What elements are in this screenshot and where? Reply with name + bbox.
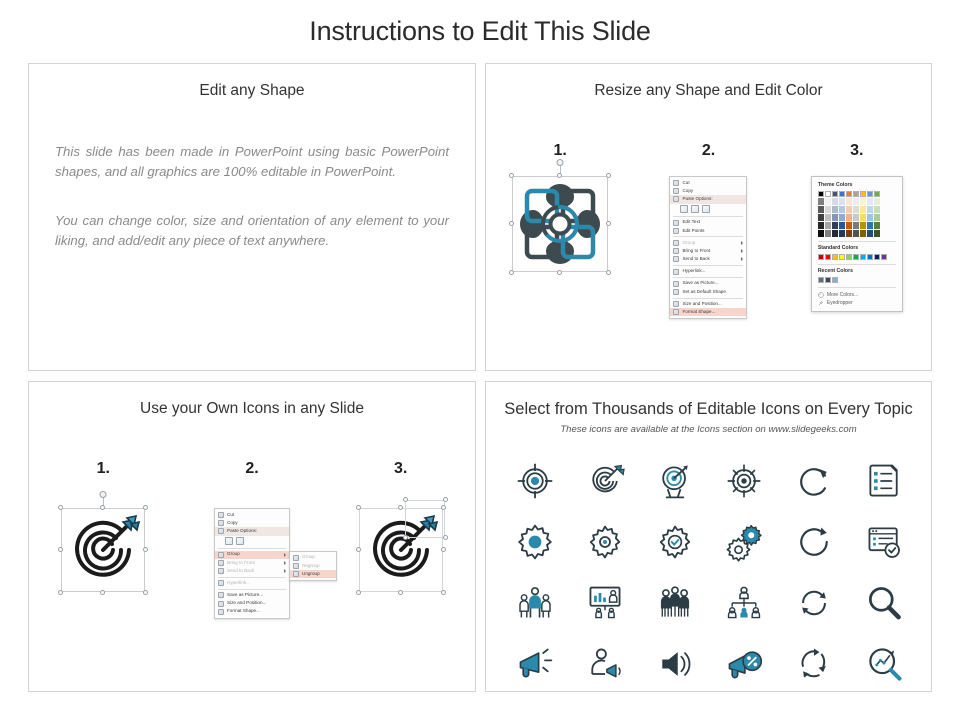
divider	[818, 264, 896, 265]
color-swatch[interactable]	[839, 191, 845, 197]
context-menu-item-edit-text[interactable]: Edit Text	[670, 219, 746, 227]
context-menu-item-cut[interactable]: Cut	[670, 179, 746, 187]
gears-pair-icon[interactable]	[722, 520, 766, 564]
theme-color-column	[853, 191, 859, 237]
color-swatch[interactable]	[860, 198, 866, 205]
theme-colors-label: Theme Colors	[818, 182, 896, 188]
context-menu-item-set-as-default-shape[interactable]: Set as Default Shape	[670, 288, 746, 296]
color-swatch[interactable]	[867, 191, 873, 197]
color-swatch[interactable]	[825, 277, 831, 283]
menu-divider	[673, 298, 743, 299]
paste-option-icon[interactable]	[236, 537, 244, 545]
submenu-item-label: Group	[302, 555, 315, 560]
refresh-clockwise-icon[interactable]	[792, 459, 836, 503]
step-number-3: 3.	[394, 460, 407, 477]
step-art-row-bottom: CutCopyPaste Options:GroupGroupRegroupUn…	[29, 508, 475, 619]
step-number-2: 2.	[702, 142, 715, 159]
step-number-cell: 2.	[178, 460, 327, 478]
target-dart-icon[interactable]	[583, 459, 627, 503]
gear-outline-icon[interactable]	[583, 520, 627, 564]
context-menu-item-label: Copy	[682, 189, 693, 194]
resize-handle[interactable]	[356, 590, 361, 595]
ungroup-icon	[293, 571, 299, 577]
step-number-cell: 2.	[634, 142, 782, 160]
step-art-cell: Theme Colors Standard Colors Recent Colo…	[783, 176, 931, 312]
checklist-document-icon[interactable]	[862, 459, 906, 503]
context-menu-item-edit-points[interactable]: Edit Points	[670, 227, 746, 235]
panel-edit-any-shape: Edit any Shape This slide has been made …	[28, 63, 476, 371]
color-swatch[interactable]	[846, 191, 852, 197]
standard-colors-swatch-row[interactable]	[818, 254, 896, 260]
divider	[818, 241, 896, 242]
menu-divider	[673, 236, 743, 237]
color-swatch[interactable]	[853, 230, 859, 237]
regroup-icon	[293, 563, 299, 569]
panel-title-own-icons: Use your Own Icons in any Slide	[29, 400, 475, 418]
palette-icon	[818, 292, 824, 298]
color-swatch[interactable]	[839, 222, 845, 229]
resize-handle[interactable]	[443, 497, 448, 502]
context-menu-item-label: Hyperlink...	[682, 269, 705, 274]
submenu-arrow-icon	[284, 561, 286, 565]
submenu-item-group[interactable]: Group	[290, 554, 336, 562]
resize-handle[interactable]	[356, 505, 361, 510]
resize-handle[interactable]	[58, 590, 63, 595]
resize-handle[interactable]	[398, 505, 403, 510]
send-back-icon	[673, 256, 679, 262]
magnifier-analytics-icon[interactable]	[862, 642, 906, 686]
group-icon	[673, 240, 679, 246]
step-number-row-bottom: 1. 2. 3.	[29, 460, 475, 478]
target-dart-ungrouped[interactable]	[359, 508, 443, 592]
bring-front-icon	[673, 248, 679, 254]
color-swatch[interactable]	[867, 222, 873, 229]
color-swatch[interactable]	[874, 214, 880, 221]
resize-handle[interactable]	[441, 505, 446, 510]
context-menu-item-size-and-position[interactable]: Size and Position...	[670, 300, 746, 308]
color-swatch[interactable]	[839, 230, 845, 237]
color-swatch[interactable]	[832, 206, 838, 213]
color-swatch[interactable]	[874, 206, 880, 213]
context-menu-item-label: Bring to Front	[227, 561, 255, 566]
color-swatch[interactable]	[874, 198, 880, 205]
theme-color-column	[825, 191, 831, 237]
context-menu-item-group[interactable]: GroupGroupRegroupUngroup	[215, 551, 289, 559]
selection-frame-secondary	[405, 500, 445, 538]
theme-color-column	[860, 191, 866, 237]
resize-handle[interactable]	[441, 547, 446, 552]
resize-handle[interactable]	[143, 547, 148, 552]
scissors-icon	[218, 512, 224, 518]
step-art-cell	[29, 508, 178, 592]
scissors-icon	[673, 180, 679, 186]
editable-shape-graphic[interactable]	[512, 176, 608, 272]
selection-frame	[61, 508, 145, 592]
step-number-cell: 1.	[29, 460, 178, 478]
cycle-arrows-icon[interactable]	[792, 642, 836, 686]
theme-color-column	[818, 191, 824, 237]
color-swatch[interactable]	[846, 230, 852, 237]
color-swatch[interactable]	[846, 254, 852, 260]
color-swatch[interactable]	[818, 214, 824, 221]
resize-handle[interactable]	[356, 547, 361, 552]
resize-handle[interactable]	[443, 535, 448, 540]
color-swatch[interactable]	[832, 277, 838, 283]
team-leader-icon[interactable]	[513, 581, 557, 625]
icon-gallery-grid	[500, 450, 919, 694]
color-swatch[interactable]	[832, 198, 838, 205]
submenu-arrow-icon	[284, 553, 286, 557]
paste-icon	[218, 528, 224, 534]
magnifier-icon[interactable]	[862, 581, 906, 625]
color-swatch[interactable]	[853, 191, 859, 197]
eyedropper-icon	[818, 300, 824, 306]
gear-filled-icon[interactable]	[513, 520, 557, 564]
format-shape-icon	[218, 609, 224, 615]
panel-own-icons: Use your Own Icons in any Slide 1. 2. 3.	[28, 381, 476, 692]
theme-color-column	[846, 191, 852, 237]
context-menu-item-label: Edit Points	[682, 229, 704, 234]
shape-context-menu[interactable]: CutCopyPaste Options:Edit TextEdit Point…	[669, 176, 747, 319]
theme-color-column	[832, 191, 838, 237]
submenu-arrow-icon	[284, 569, 286, 573]
color-swatch[interactable]	[839, 198, 845, 205]
theme-color-column	[867, 191, 873, 237]
slide-canvas: Instructions to Edit This Slide Edit any…	[0, 0, 960, 720]
color-swatch[interactable]	[853, 254, 859, 260]
panel-editable-icons: Select from Thousands of Editable Icons …	[485, 381, 932, 692]
more-colors-menu-item[interactable]: More Colors...	[818, 291, 896, 299]
color-swatch[interactable]	[825, 206, 831, 213]
megaphone-percent-icon[interactable]	[722, 642, 766, 686]
recent-colors-swatch-row[interactable]	[818, 277, 896, 283]
step-number-3: 3.	[850, 142, 863, 159]
color-swatch[interactable]	[874, 254, 880, 260]
resize-handle[interactable]	[143, 505, 148, 510]
color-swatch[interactable]	[853, 222, 859, 229]
send-back-icon	[218, 568, 224, 574]
menu-divider	[673, 216, 743, 217]
context-menu-item-hyperlink[interactable]: Hyperlink...	[215, 579, 289, 587]
color-swatch[interactable]	[860, 222, 866, 229]
menu-divider	[218, 548, 286, 549]
copy-icon	[218, 520, 224, 526]
paste-option-icon[interactable]	[691, 205, 699, 213]
context-menu-item-cut[interactable]: Cut	[215, 511, 289, 519]
megaphone-icon[interactable]	[513, 642, 557, 686]
context-menu-item-label: Size and Position...	[682, 302, 721, 307]
context-menu-item-send-to-back[interactable]: Send to Back	[670, 255, 746, 263]
context-menu-item-label: Copy	[227, 521, 238, 526]
color-swatch[interactable]	[860, 206, 866, 213]
rotation-handle[interactable]	[557, 159, 564, 166]
context-menu-item-label: Paste Options:	[682, 197, 712, 202]
org-chart-people-icon[interactable]	[722, 581, 766, 625]
context-menu-item-label: Save as Picture...	[682, 281, 718, 286]
context-menu-item-send-to-back[interactable]: Send to Back	[215, 567, 289, 575]
panel-title-editable-icons: Select from Thousands of Editable Icons …	[486, 400, 931, 419]
save-picture-icon	[218, 592, 224, 598]
context-menu-item-label: Hyperlink...	[227, 581, 250, 586]
context-menu-item-label: Format Shape...	[682, 310, 715, 315]
resize-handle[interactable]	[398, 590, 403, 595]
color-swatch[interactable]	[832, 254, 838, 260]
paste-option-icon[interactable]	[702, 205, 710, 213]
theme-color-column	[874, 191, 880, 237]
resize-handle[interactable]	[143, 590, 148, 595]
color-swatch[interactable]	[825, 222, 831, 229]
context-menu-item-size-and-position[interactable]: Size and Position...	[215, 600, 289, 608]
color-swatch[interactable]	[839, 214, 845, 221]
target-crosshair-filled-icon[interactable]	[513, 459, 557, 503]
panel-title-edit-any-shape: Edit any Shape	[29, 82, 475, 100]
context-menu-item-label: Send to Back	[227, 569, 254, 574]
context-menu-item-hyperlink[interactable]: Hyperlink...	[670, 268, 746, 276]
color-swatch[interactable]	[867, 198, 873, 205]
color-swatch[interactable]	[860, 214, 866, 221]
context-menu-item-label: Cut	[682, 181, 689, 186]
page-title: Instructions to Edit This Slide	[0, 16, 960, 47]
color-swatch[interactable]	[881, 254, 887, 260]
color-swatch[interactable]	[846, 198, 852, 205]
menu-divider	[218, 589, 286, 590]
menu-divider	[673, 277, 743, 278]
edit-points-icon	[673, 228, 679, 234]
theme-colors-swatch-grid[interactable]	[818, 191, 896, 237]
color-swatch[interactable]	[818, 198, 824, 205]
menu-divider	[673, 265, 743, 266]
hyperlink-icon	[673, 269, 679, 275]
panel-subtitle-icons-source: These icons are available at the Icons s…	[486, 424, 931, 435]
submenu-item-ungroup[interactable]: Ungroup	[290, 570, 336, 578]
more-colors-label: More Colors...	[827, 292, 858, 298]
context-menu-item-label: Paste Options:	[227, 529, 257, 534]
color-swatch[interactable]	[867, 230, 873, 237]
color-swatch[interactable]	[832, 191, 838, 197]
presentation-training-icon[interactable]	[583, 581, 627, 625]
color-swatch[interactable]	[825, 230, 831, 237]
context-menu-item-bring-to-front[interactable]: Bring to Front	[670, 247, 746, 255]
color-swatch[interactable]	[818, 230, 824, 237]
group-context-menu[interactable]: CutCopyPaste Options:GroupGroupRegroupUn…	[214, 508, 290, 619]
color-swatch[interactable]	[818, 191, 824, 197]
crosshair-scope-icon[interactable]	[722, 459, 766, 503]
context-menu-item-label: Size and Position...	[227, 601, 266, 606]
target-dart-selected[interactable]	[61, 508, 145, 592]
step-number-1: 1.	[553, 142, 566, 159]
context-menu-item-label: Edit Text	[682, 220, 700, 225]
eyedropper-label: Eyedropper	[827, 300, 853, 306]
color-swatch[interactable]	[860, 191, 866, 197]
color-swatch[interactable]	[846, 214, 852, 221]
context-menu-item-paste-options[interactable]: Paste Options:	[215, 527, 289, 535]
person-announce-icon[interactable]	[583, 642, 627, 686]
color-picker-popup[interactable]: Theme Colors Standard Colors Recent Colo…	[811, 176, 903, 312]
step-art-cell	[326, 508, 475, 592]
edit-text-icon	[673, 220, 679, 226]
step-art-cell: CutCopyPaste Options:Edit TextEdit Point…	[634, 176, 782, 319]
bring-front-icon	[218, 560, 224, 566]
color-swatch[interactable]	[860, 230, 866, 237]
context-menu-item-group[interactable]: Group	[670, 239, 746, 247]
color-swatch[interactable]	[867, 214, 873, 221]
context-menu-item-label: Format Shape...	[227, 609, 260, 614]
context-menu-item-label: Group	[682, 241, 695, 246]
color-swatch[interactable]	[825, 198, 831, 205]
color-swatch[interactable]	[846, 206, 852, 213]
context-menu-item-copy[interactable]: Copy	[215, 519, 289, 527]
resize-handle[interactable]	[606, 270, 611, 275]
theme-color-column	[839, 191, 845, 237]
submenu-item-label: Ungroup	[302, 572, 320, 577]
color-swatch[interactable]	[853, 214, 859, 221]
color-swatch[interactable]	[832, 214, 838, 221]
paste-icon	[673, 196, 679, 202]
resize-handle[interactable]	[403, 535, 408, 540]
context-menu-item-paste-options[interactable]: Paste Options:	[670, 195, 746, 203]
color-swatch[interactable]	[832, 230, 838, 237]
color-swatch[interactable]	[853, 206, 859, 213]
context-menu-item-label: Cut	[227, 513, 234, 518]
color-swatch[interactable]	[853, 198, 859, 205]
panel-resize-edit-color: Resize any Shape and Edit Color 1. 2. 3.	[485, 63, 932, 371]
step-art-row-top: CutCopyPaste Options:Edit TextEdit Point…	[486, 176, 931, 319]
description-paragraph-2: You can change color, size and orientati…	[55, 211, 449, 252]
reload-circle-icon[interactable]	[792, 520, 836, 564]
eyedropper-menu-item[interactable]: Eyedropper	[818, 299, 896, 307]
panel-title-resize-edit-color: Resize any Shape and Edit Color	[486, 82, 931, 100]
selection-frame	[512, 176, 608, 272]
color-swatch[interactable]	[825, 191, 831, 197]
color-swatch[interactable]	[839, 254, 845, 260]
resize-handle[interactable]	[606, 173, 611, 178]
step-number-cell: 3.	[783, 142, 931, 160]
format-shape-icon	[673, 309, 679, 315]
submenu-arrow-icon	[741, 249, 743, 253]
context-menu-item-label: Save as Picture...	[227, 593, 263, 598]
resize-handle[interactable]	[403, 497, 408, 502]
recent-colors-label: Recent Colors	[818, 268, 896, 274]
resize-handle[interactable]	[441, 590, 446, 595]
menu-divider	[218, 577, 286, 578]
paste-option-buttons[interactable]	[215, 536, 289, 547]
color-swatch[interactable]	[846, 222, 852, 229]
step-number-1: 1.	[97, 460, 110, 477]
color-swatch[interactable]	[874, 230, 880, 237]
color-swatch[interactable]	[874, 191, 880, 197]
target-stand-dart-icon[interactable]	[653, 459, 697, 503]
group-icon	[293, 555, 299, 561]
description-paragraph-1: This slide has been made in PowerPoint u…	[55, 142, 449, 183]
speaker-sound-icon[interactable]	[653, 642, 697, 686]
standard-colors-label: Standard Colors	[818, 245, 896, 251]
divider	[818, 287, 896, 288]
color-swatch[interactable]	[825, 214, 831, 221]
submenu-arrow-icon	[741, 241, 743, 245]
color-swatch[interactable]	[818, 206, 824, 213]
color-swatch[interactable]	[839, 206, 845, 213]
context-menu-item-bring-to-front[interactable]: Bring to Front	[215, 559, 289, 567]
step-number-cell: 1.	[486, 142, 634, 160]
submenu-item-label: Regroup	[302, 564, 320, 569]
step-number-2: 2.	[245, 460, 258, 477]
paste-option-icon[interactable]	[225, 537, 233, 545]
context-menu-item-label: Group	[227, 552, 240, 557]
sync-arrows-icon[interactable]	[792, 581, 836, 625]
resize-handle[interactable]	[509, 270, 514, 275]
paste-option-buttons[interactable]	[670, 204, 746, 215]
color-swatch[interactable]	[860, 254, 866, 260]
color-swatch[interactable]	[867, 254, 873, 260]
context-menu-item-save-as-picture[interactable]: Save as Picture...	[670, 280, 746, 288]
color-swatch[interactable]	[867, 206, 873, 213]
resize-handle[interactable]	[100, 590, 105, 595]
default-shape-icon	[673, 289, 679, 295]
people-group-icon[interactable]	[653, 581, 697, 625]
step-number-cell: 3.	[326, 460, 475, 478]
color-swatch[interactable]	[874, 222, 880, 229]
color-swatch[interactable]	[818, 222, 824, 229]
context-menu-item-label: Send to Back	[682, 257, 709, 262]
size-position-icon	[673, 301, 679, 307]
group-submenu[interactable]: GroupRegroupUngroup	[289, 551, 337, 582]
context-menu-item-label: Bring to Front	[682, 249, 710, 254]
submenu-arrow-icon	[741, 257, 743, 261]
size-position-icon	[218, 601, 224, 607]
hyperlink-icon	[218, 580, 224, 586]
color-swatch[interactable]	[818, 277, 824, 283]
report-check-icon[interactable]	[862, 520, 906, 564]
step-art-cell	[486, 176, 634, 272]
context-menu-item-format-shape[interactable]: Format Shape...	[215, 608, 289, 616]
submenu-item-regroup[interactable]: Regroup	[290, 562, 336, 570]
context-menu-item-save-as-picture[interactable]: Save as Picture...	[215, 591, 289, 599]
color-swatch[interactable]	[832, 222, 838, 229]
step-number-row-top: 1. 2. 3.	[486, 142, 931, 160]
step-art-cell: CutCopyPaste Options:GroupGroupRegroupUn…	[178, 508, 327, 619]
context-menu-item-label: Set as Default Shape	[682, 290, 725, 295]
group-icon	[218, 552, 224, 558]
resize-handle[interactable]	[606, 221, 611, 226]
resize-handle[interactable]	[557, 270, 562, 275]
gear-check-icon[interactable]	[653, 520, 697, 564]
copy-icon	[673, 188, 679, 194]
context-menu-item-format-shape[interactable]: Format Shape...	[670, 308, 746, 316]
context-menu-item-copy[interactable]: Copy	[670, 187, 746, 195]
color-swatch[interactable]	[818, 254, 824, 260]
paste-option-icon[interactable]	[680, 205, 688, 213]
color-swatch[interactable]	[825, 254, 831, 260]
rotation-handle[interactable]	[100, 491, 107, 498]
save-picture-icon	[673, 281, 679, 287]
